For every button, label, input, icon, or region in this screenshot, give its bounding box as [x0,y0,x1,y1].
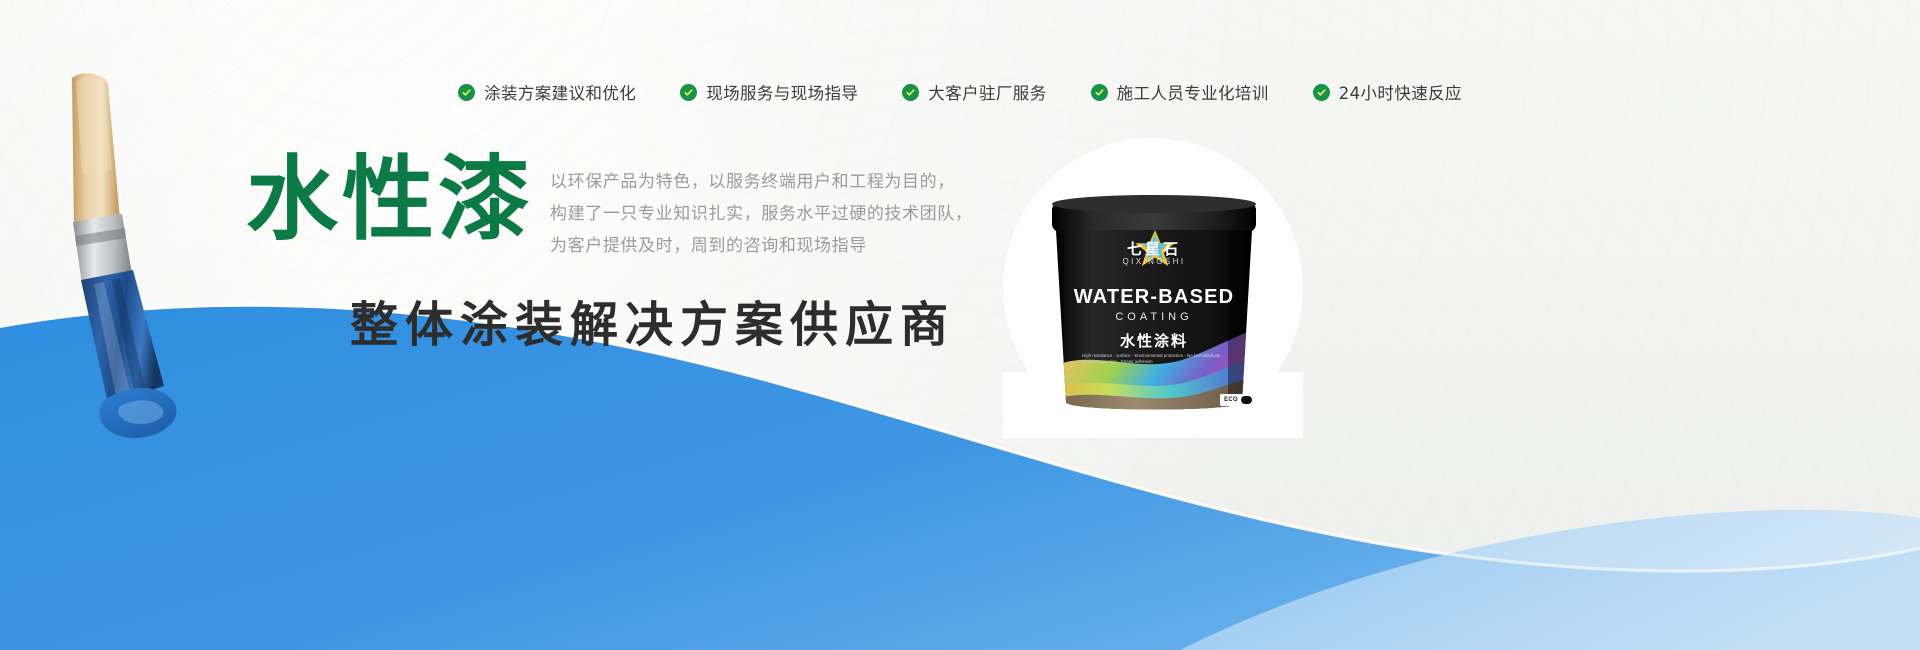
description-line-2: 构建了一只专业知识扎实，服务水平过硬的技术团队， [550,198,972,230]
feature-label: 施工人员专业化培训 [1117,80,1269,104]
check-circle-icon [1091,84,1108,101]
description-line-1: 以环保产品为特色，以服务终端用户和工程为目的， [550,166,972,198]
bucket-svg [1038,190,1270,420]
feature-item-2[interactable]: 现场服务与现场指导 [680,80,858,104]
feature-item-1[interactable]: 涂装方案建议和优化 [458,80,636,104]
feature-label: 24小时快速反应 [1339,80,1462,104]
feature-label: 涂装方案建议和优化 [484,80,636,104]
description-line-3: 为客户提供及时，周到的咨询和现场指导 [550,230,972,262]
feature-item-5[interactable]: 24小时快速反应 [1313,80,1462,104]
blue-wave-decoration [0,230,1920,650]
wave-svg [0,230,1920,650]
feature-list: 涂装方案建议和优化 现场服务与现场指导 大客户驻厂服务 施工人员专业化培训 24 [0,80,1920,104]
feature-item-4[interactable]: 施工人员专业化培训 [1091,80,1269,104]
paintbrush-svg [46,70,246,450]
headline-description: 以环保产品为特色，以服务终端用户和工程为目的， 构建了一只专业知识扎实，服务水平… [550,166,972,262]
feature-label: 现场服务与现场指导 [706,80,858,104]
check-circle-icon [1313,84,1330,101]
sub-headline: 整体涂装解决方案供应商 [350,285,955,355]
paintbrush-illustration [46,70,246,450]
feature-item-3[interactable]: 大客户驻厂服务 [902,80,1046,104]
check-circle-icon [458,84,475,101]
check-circle-icon [680,84,697,101]
hero-banner: 涂装方案建议和优化 现场服务与现场指导 大客户驻厂服务 施工人员专业化培训 24 [0,0,1920,650]
bucket-lid-top [1052,195,1256,213]
feature-label: 大客户驻厂服务 [928,80,1046,104]
check-circle-icon [902,84,919,101]
headline-block: 水性漆 以环保产品为特色，以服务终端用户和工程为目的， 构建了一只专业知识扎实，… [246,150,972,262]
product-bucket-image [1038,190,1270,420]
page-title: 水性漆 [246,150,534,249]
